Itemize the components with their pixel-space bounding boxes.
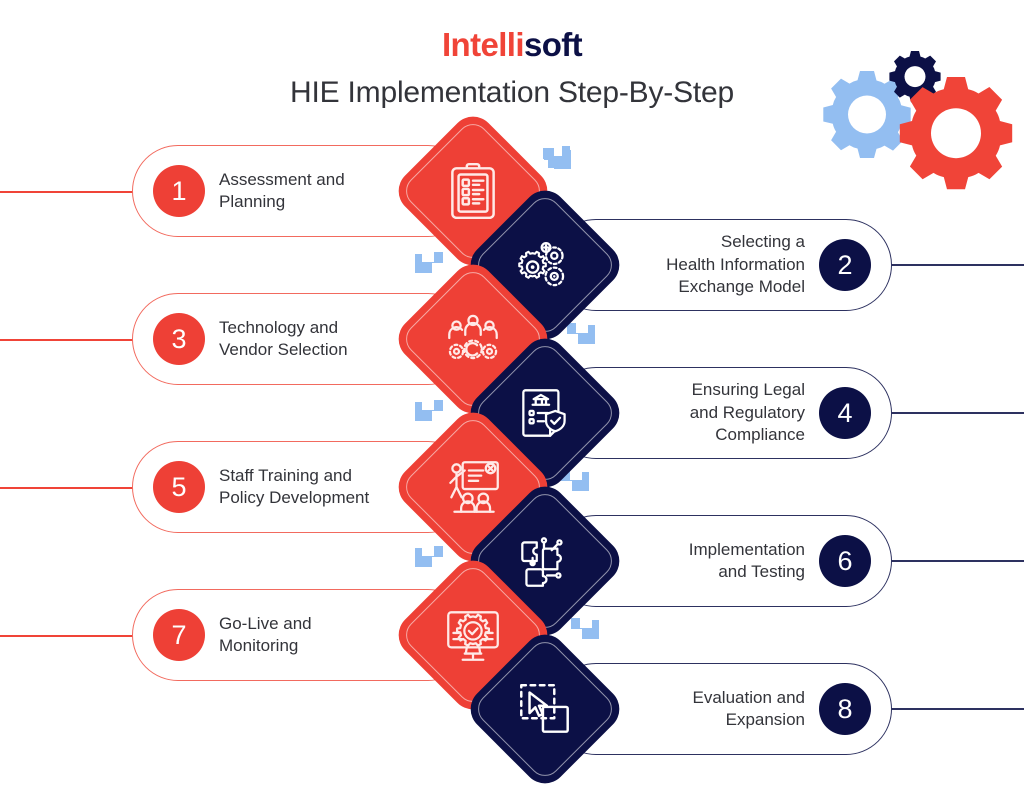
step-number-badge-4: 4 [819, 387, 871, 439]
arrow-down-left-1-icon [412, 246, 446, 280]
infographic-canvas: Intellisoft HIE Implementation Step-By-S… [0, 0, 1024, 794]
brand-logo-part2: soft [524, 26, 582, 63]
step-number-badge-7: 7 [153, 609, 205, 661]
arrow-down-right-4-icon [568, 612, 602, 646]
legal-shield-document-icon [509, 377, 581, 449]
clipboard-checklist-icon [437, 155, 509, 227]
step-label-8: Evaluation and Expansion [693, 687, 805, 732]
step-number-badge-1: 1 [153, 165, 205, 217]
connector-left-7 [0, 635, 134, 637]
connector-right-2 [890, 264, 1024, 266]
team-gears-icon [437, 303, 509, 375]
step-label-3: Technology and Vendor Selection [219, 317, 348, 362]
connector-right-4 [890, 412, 1024, 414]
step-number-badge-2: 2 [819, 239, 871, 291]
connector-left-1 [0, 191, 134, 193]
connector-left-5 [0, 487, 134, 489]
gear-cluster-decoration [808, 24, 1024, 200]
training-presentation-icon [437, 451, 509, 523]
step-label-1: Assessment and Planning [219, 169, 345, 214]
step-label-4: Ensuring Legal and Regulatory Compliance [690, 379, 805, 446]
gears-settings-icon [509, 229, 581, 301]
step-number-badge-6: 6 [819, 535, 871, 587]
connector-left-3 [0, 339, 134, 341]
step-number-badge-3: 3 [153, 313, 205, 365]
step-label-2: Selecting a Health Information Exchange … [666, 231, 805, 298]
step-label-7: Go-Live and Monitoring [219, 613, 312, 658]
cursor-expand-selection-icon [509, 673, 581, 745]
arrow-down-left-3-icon [412, 540, 446, 574]
step-label-6: Implementation and Testing [689, 539, 805, 584]
brand-logo-part1: Intelli [442, 26, 524, 63]
arrow-down-right-1-icon [540, 142, 574, 176]
arrow-down-left-2-icon [412, 394, 446, 428]
step-number-badge-5: 5 [153, 461, 205, 513]
connector-right-8 [890, 708, 1024, 710]
step-label-5: Staff Training and Policy Development [219, 465, 369, 510]
step-number-badge-8: 8 [819, 683, 871, 735]
puzzle-pieces-icon [509, 525, 581, 597]
monitor-gear-check-icon [437, 599, 509, 671]
connector-right-6 [890, 560, 1024, 562]
